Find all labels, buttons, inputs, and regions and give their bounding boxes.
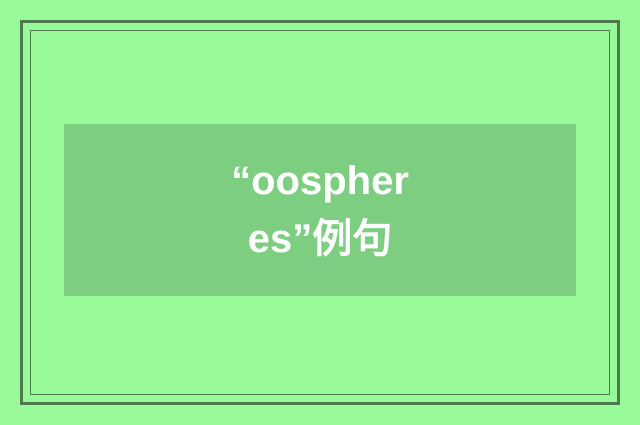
page-title: “oospheres”例句 (225, 152, 415, 268)
title-card: “oospheres”例句 (64, 124, 576, 296)
page-canvas: “oospheres”例句 (0, 0, 640, 425)
